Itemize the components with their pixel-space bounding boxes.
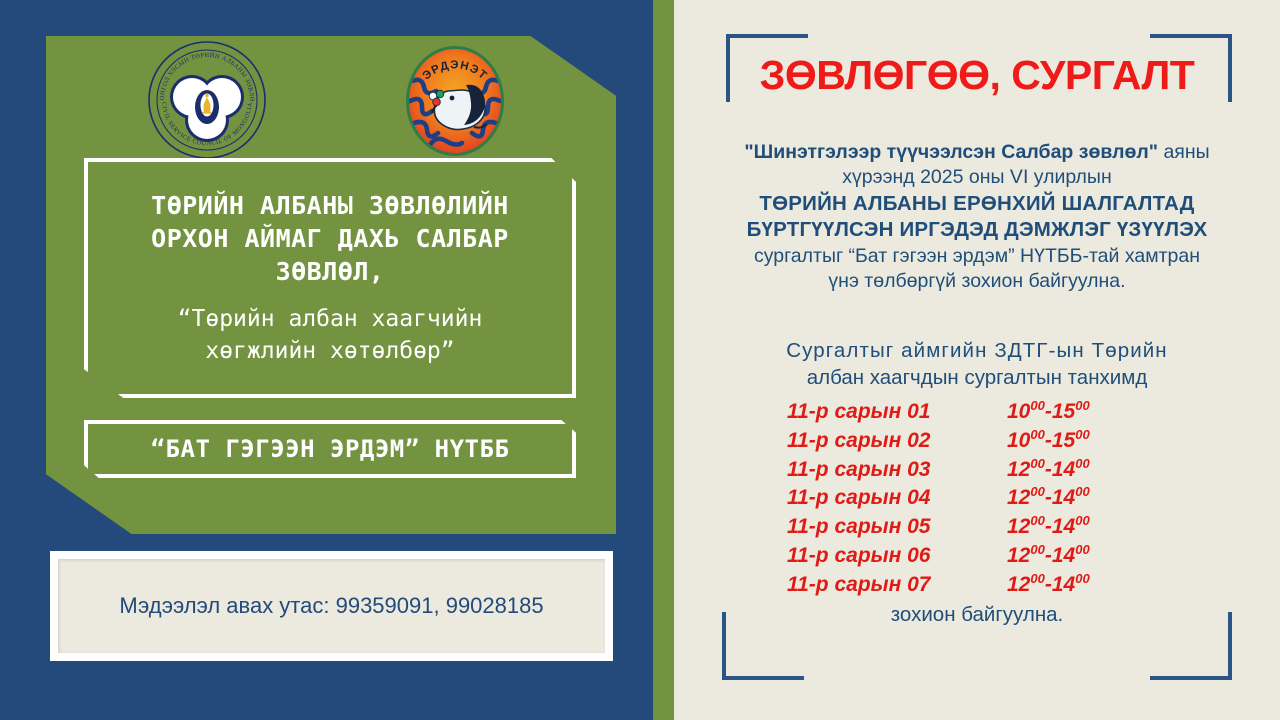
schedule-time: 1200-1400 [977,571,1167,597]
body-line-5: сургалтыг “Бат гэгээн эрдэм” НҮТББ-тай х… [680,244,1274,269]
contact-box-inner: Мэдээлэл авах утас: 99359091, 99028185 [58,559,605,653]
program-subtitle: “Төрийн албан хаагчийн хөгжлийн хөтөлбөр… [178,304,483,366]
poster-root: МОНГОЛ УЛСЫН ТӨРИЙН АЛБАНЫ ЗӨВЛӨЛ CIVIL … [0,0,1280,720]
bracket-bottom-right-horizontal [1150,676,1232,680]
body-line-6: үнэ төлбөргүй зохион байгуулна. [680,269,1274,294]
bracket-top-left-horizontal [726,34,808,38]
closing-line: зохион байгуулна. [680,603,1274,627]
schedule-row: 11-р сарын 041200-1400 [680,484,1274,513]
council-title: ТӨРИЙН АЛБАНЫ ЗӨВЛӨЛИЙН ОРХОН АЙМАГ ДАХЬ… [151,189,509,288]
schedule-date: 11-р сарын 06 [787,544,977,568]
announcement-body: "Шинэтгэлээр түүчээлсэн Салбар зөвлөл" а… [680,140,1274,295]
schedule-row: 11-р сарын 051200-1400 [680,513,1274,542]
schedule-list: 11-р сарын 011000-150011-р сарын 021000-… [680,398,1274,600]
ngo-label: “БАТ ГЭГЭЭН ЭРДЭМ” НҮТББ [151,435,510,463]
body-line-2: хүрээнд 2025 оны VI улирлын [680,165,1274,190]
contact-phone-text: Мэдээлэл авах утас: 99359091, 99028185 [119,593,543,619]
schedule-date: 11-р сарын 02 [787,429,977,453]
body-line-4: БҮРТГҮҮЛСЭН ИРГЭДЭД ДЭМЖЛЭГ ҮЗҮҮЛЭХ [680,217,1274,244]
schedule-time: 1200-1400 [977,513,1167,539]
venue-line-2: албан хаагчдын сургалтын танхимд [680,364,1274,391]
schedule-time: 1200-1400 [977,456,1167,482]
campaign-suffix: аяны [1158,141,1210,163]
campaign-name: "Шинэтгэлээр түүчээлсэн Салбар зөвлөл" [744,141,1158,163]
schedule-row: 11-р сарын 061200-1400 [680,542,1274,571]
schedule-row: 11-р сарын 031200-1400 [680,456,1274,485]
schedule-row: 11-р сарын 021000-1500 [680,427,1274,456]
green-divider-strip [653,0,674,720]
schedule-date: 11-р сарын 04 [787,486,977,510]
schedule-time: 1000-1500 [977,398,1167,424]
schedule-time: 1200-1400 [977,542,1167,568]
venue-info: Сургалтыг аймгийн ЗДТГ-ын Төрийн албан х… [680,337,1274,391]
schedule-row: 11-р сарын 071200-1400 [680,571,1274,600]
bracket-top-right-horizontal [1150,34,1232,38]
schedule-date: 11-р сарын 05 [787,515,977,539]
schedule-time: 1000-1500 [977,427,1167,453]
page-title: ЗӨВЛӨГӨӨ, СУРГАЛТ [674,52,1280,99]
bracket-bottom-left-horizontal [722,676,804,680]
body-line-1: "Шинэтгэлээр түүчээлсэн Салбар зөвлөл" а… [680,140,1274,165]
schedule-date: 11-р сарын 03 [787,458,977,482]
contact-box: Мэдээлэл авах утас: 99359091, 99028185 [50,551,613,661]
schedule-date: 11-р сарын 01 [787,400,977,424]
ngo-outline-box: “БАТ ГЭГЭЭН ЭРДЭМ” НҮТББ [84,420,576,478]
schedule-row: 11-р сарын 011000-1500 [680,398,1274,427]
schedule-date: 11-р сарын 07 [787,573,977,597]
heading-outline-box: ТӨРИЙН АЛБАНЫ ЗӨВЛӨЛИЙН ОРХОН АЙМАГ ДАХЬ… [84,158,576,398]
body-line-3: ТӨРИЙН АЛБАНЫ ЕРӨНХИЙ ШАЛГАЛТАД [680,191,1274,218]
schedule-time: 1200-1400 [977,484,1167,510]
venue-line-1: Сургалтыг аймгийн ЗДТГ-ын Төрийн [680,337,1274,364]
